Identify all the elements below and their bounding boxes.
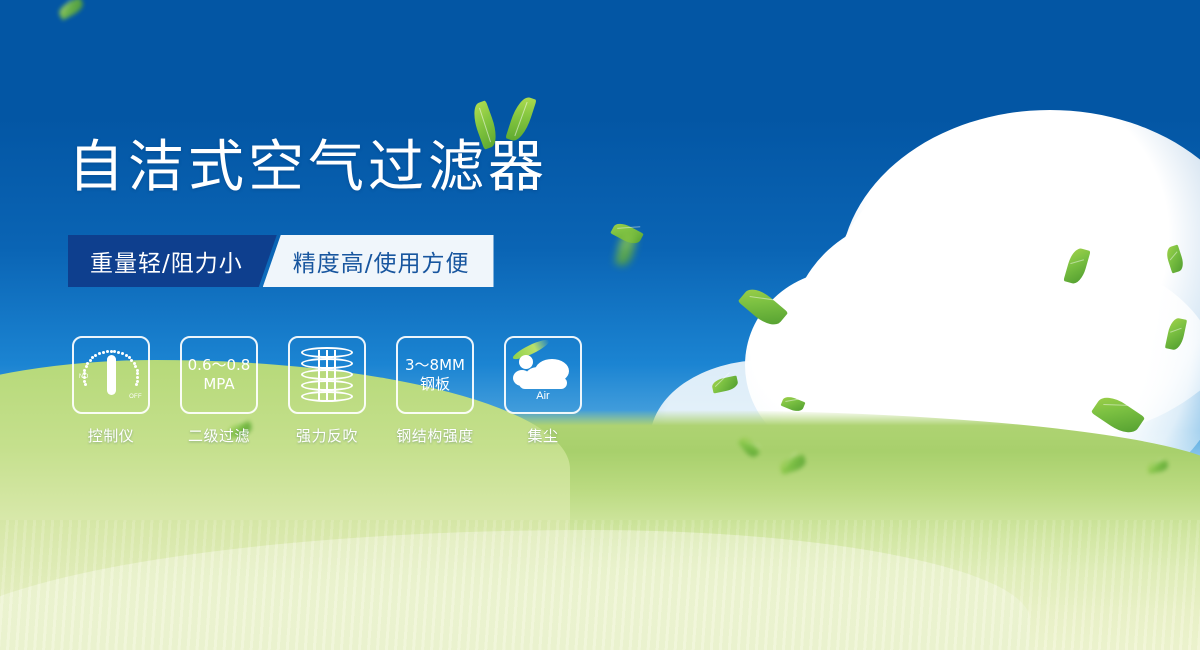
feature-caption: 钢结构强度 [396,425,474,446]
cloud-decoration [745,270,945,460]
cloud-decoration [480,478,710,603]
gauge-tick [136,376,139,379]
gauge-tick [85,365,88,368]
gauge-tick [94,354,97,357]
title-leaf-pair-icon [472,92,552,154]
product-hero-banner: 自洁式空气过滤器 重量轻/阻力小 精度高/使用方便 NO OFF 控制仪 0.6… [0,0,1200,650]
cloud-decoration [610,462,860,602]
leaf-icon [615,231,638,268]
cloud-puff [519,355,533,369]
gauge-tick [110,350,113,353]
feature-icon-box: NO OFF [72,336,150,414]
air-cloud-icon: Air [513,351,573,399]
grass-field [0,410,1200,650]
leaf-icon [738,283,789,331]
leaf-icon [711,375,739,393]
hero-title-block: 自洁式空气过滤器 [68,140,548,196]
leaf-icon [1091,391,1145,439]
subtitle-segment-left: 重量轻/阻力小 [68,235,277,287]
gauge-label-no: NO [79,374,89,380]
gauge-tick [86,362,89,365]
cloud-decoration [890,255,1200,505]
air-label: Air [513,390,573,402]
cloud-decoration [780,330,1080,540]
subtitle-ribbon: 重量轻/阻力小 精度高/使用方便 [68,235,494,287]
feature-caption: 强力反吹 [288,425,366,446]
cloud-decoration [830,150,1160,450]
feature-item-controller[interactable]: NO OFF 控制仪 [72,336,150,446]
feature-caption: 控制仪 [72,425,150,446]
gauge-tick [121,352,124,355]
pressure-unit: MPA [188,375,251,394]
gauge-tick [84,383,87,386]
gauge-icon: NO OFF [80,346,142,404]
gauge-tick [89,359,92,362]
leaf-icon [610,220,644,247]
subtitle-segment-right: 精度高/使用方便 [263,235,494,287]
leaf-icon [1147,460,1168,473]
feature-caption: 集尘 [504,425,582,446]
gauge-tick [135,383,138,386]
steel-material: 钢板 [405,375,465,394]
feature-item-steel-strength[interactable]: 3～8MM 钢板 钢结构强度 [396,336,474,446]
cloud-decoration [200,465,430,600]
gauge-tick [136,369,139,372]
steel-thickness: 3～8MM [405,356,465,374]
cloud-decoration [930,455,1200,605]
coil-bar [318,350,320,400]
gauge-tick [136,372,139,375]
feature-item-dust-collection[interactable]: Air 集尘 [504,336,582,446]
coil-bar [334,350,336,400]
leaf-icon [505,94,536,143]
leaf-icon [1063,246,1090,286]
leaf-icon [738,435,760,459]
pressure-range: 0.6～0.8 [188,356,251,374]
feature-icon-box: 3～8MM 钢板 [396,336,474,414]
leaf-icon [469,100,502,149]
gauge-needle [107,355,116,395]
gauge-tick [117,351,120,354]
gauge-tick [136,380,139,383]
feature-icon-row: NO OFF 控制仪 0.6～0.8 MPA 二级过滤 [72,336,582,446]
gauge-tick [106,350,109,353]
gauge-tick [134,365,137,368]
leaf-icon [1164,244,1185,273]
cloud-decoration [60,440,310,600]
pressure-text-icon: 0.6～0.8 MPA [188,356,251,394]
leaf-icon [56,0,85,20]
gauge-tick [98,352,101,355]
coil-bar [326,350,328,400]
feature-icon-box [288,336,366,414]
feature-item-backblow[interactable]: 强力反吹 [288,336,366,446]
cloud-decoration [330,450,590,600]
leaf-icon [781,394,806,413]
gauge-tick [83,369,86,372]
gauge-tick [102,351,105,354]
leaf-icon [1165,317,1187,352]
steel-plate-text-icon: 3～8MM 钢板 [405,356,465,394]
feature-caption: 二级过滤 [180,425,258,446]
cloud-decoration [650,360,880,520]
feature-icon-box: Air [504,336,582,414]
cloud-decoration [760,470,1040,605]
cloud-decoration [790,215,1050,455]
gauge-label-off: OFF [129,394,142,400]
grass-texture [0,520,1200,650]
gauge-tick [113,350,116,353]
feature-icon-box: 0.6～0.8 MPA [180,336,258,414]
cloud-base [519,377,567,389]
grass-foreground [0,530,1030,650]
feature-item-two-stage-filter[interactable]: 0.6～0.8 MPA 二级过滤 [180,336,258,446]
filter-coil-icon [301,347,353,403]
cloud-decoration [840,110,1200,440]
horizon-haze [0,430,1200,580]
leaf-icon [779,454,808,474]
distant-cloud-shadow [700,505,1200,595]
